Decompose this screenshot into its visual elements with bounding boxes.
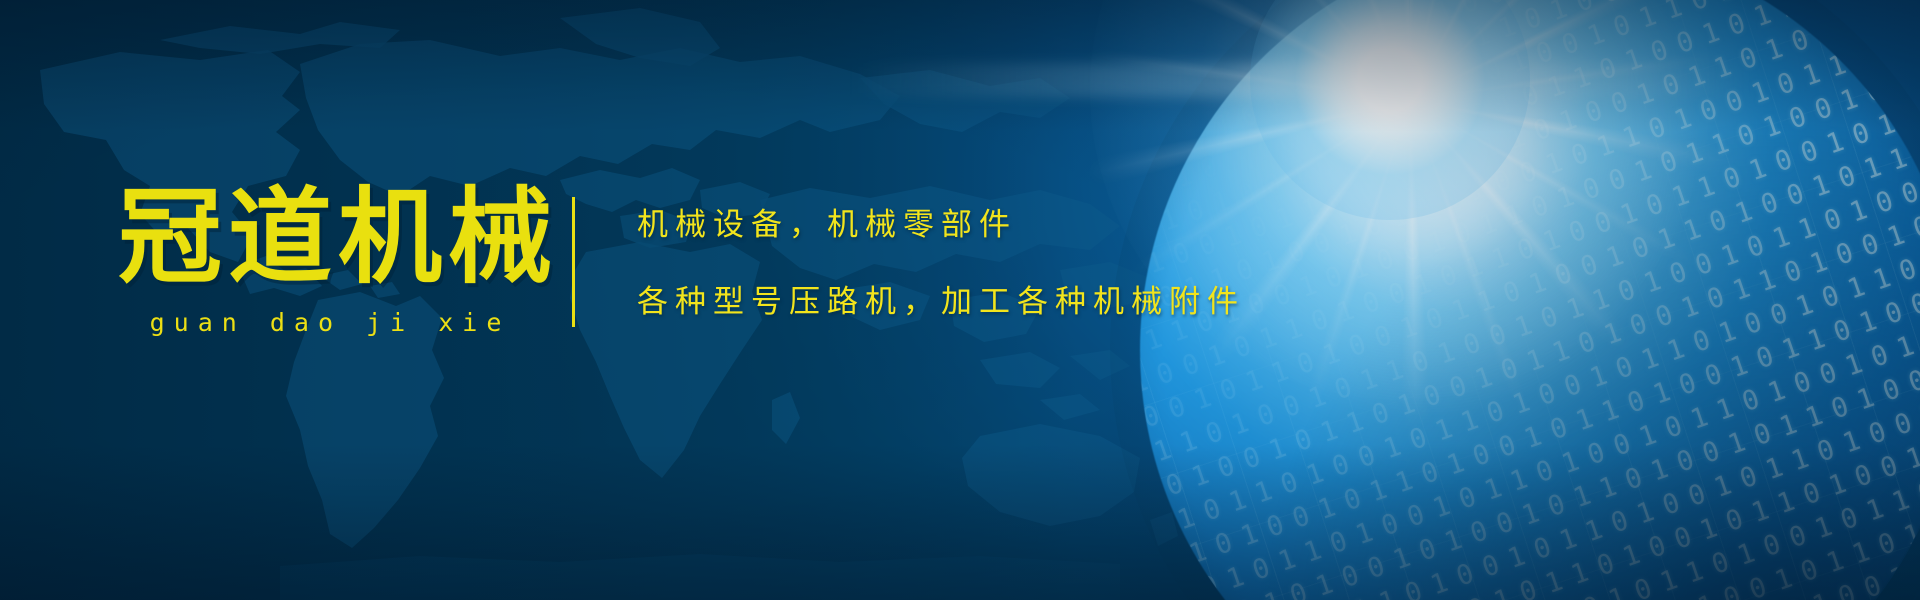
tagline-secondary: 各种型号压路机，加工各种机械附件 bbox=[637, 285, 1245, 319]
promo-banner: 10110100101001011010010110100101 0100101… bbox=[0, 0, 1920, 600]
banner-content: 冠道机械 guan dao ji xie 机械设备，机械零部件 各种型号压路机，… bbox=[118, 186, 1245, 337]
vertical-divider bbox=[572, 197, 575, 327]
tagline-list: 机械设备，机械零部件 各种型号压路机，加工各种机械附件 bbox=[637, 204, 1245, 318]
tagline-primary: 机械设备，机械零部件 bbox=[637, 208, 1245, 242]
logo-block: 冠道机械 guan dao ji xie bbox=[118, 186, 542, 337]
company-name: 冠道机械 bbox=[118, 186, 542, 290]
company-name-pinyin: guan dao ji xie bbox=[118, 308, 542, 337]
